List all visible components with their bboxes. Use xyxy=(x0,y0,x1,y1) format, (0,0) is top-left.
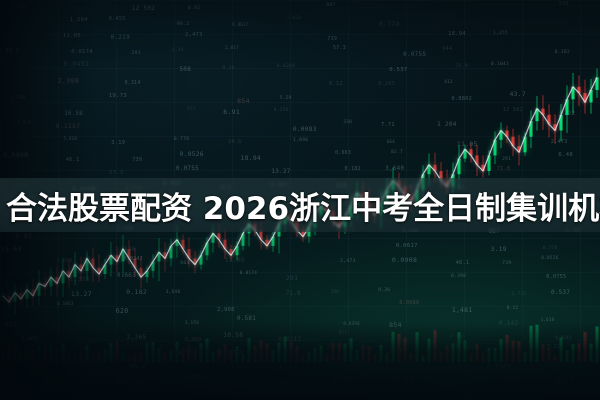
stock-banner-image: 0.024112 5020.928873301 2040.45598.20.06… xyxy=(0,0,600,400)
page-title: 合法股票配资 2026浙江中考全日制集训机构推荐榜 xyxy=(0,180,600,230)
